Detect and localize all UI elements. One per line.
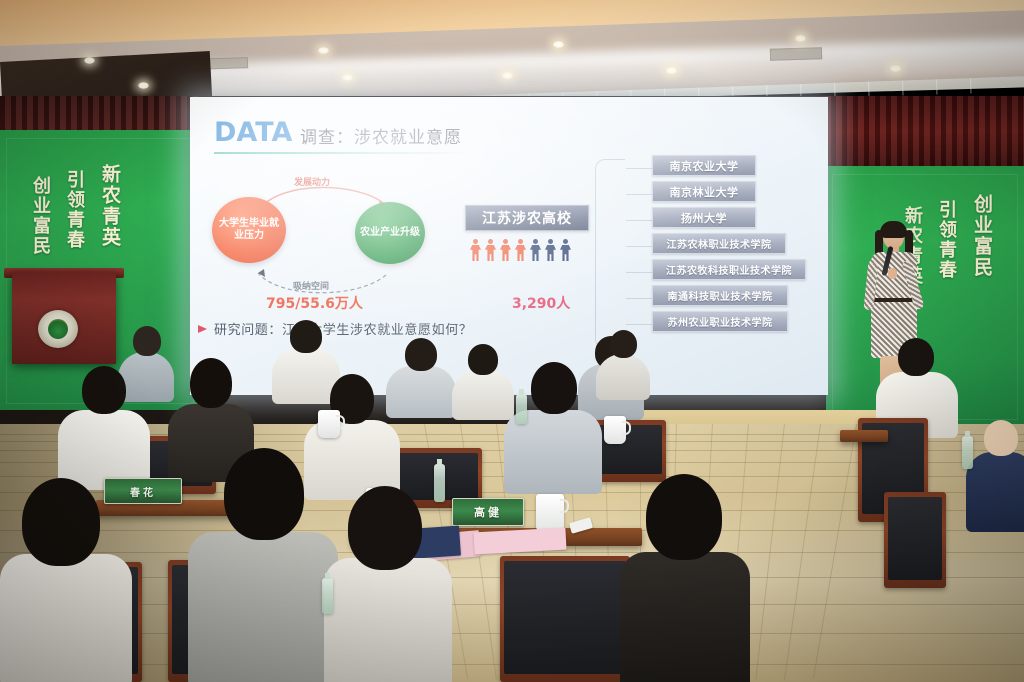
bubble-industry-upgrade: 农业产业升级 — [355, 202, 425, 264]
person-icon — [545, 239, 556, 261]
audience-member — [324, 486, 452, 682]
banner-left-line-3: 创业富民 — [28, 176, 54, 256]
university-item: 苏州农业职业技术学院 — [652, 311, 788, 332]
stat-right: 3,290人 — [512, 293, 570, 313]
nameplate: 高健 — [452, 498, 524, 526]
research-question: 研究问题：江苏大学生涉农就业意愿如何？ — [214, 319, 472, 338]
presenter-hair-top — [880, 221, 907, 238]
ceiling-downlight — [795, 35, 806, 42]
person-icon — [485, 239, 496, 261]
university-item: 南通科技职业技术学院 — [652, 285, 788, 306]
person-icon — [515, 239, 526, 261]
person-icon — [500, 239, 511, 261]
slide-title: 调查：涉农就业意愿 — [300, 123, 462, 148]
mug — [604, 416, 626, 444]
people-icon-row — [470, 239, 571, 261]
ceiling-downlight — [502, 72, 513, 79]
water-bottle — [516, 394, 527, 424]
podium-emblem-icon — [38, 310, 78, 348]
chair — [500, 556, 630, 682]
mug — [536, 494, 564, 532]
water-bottle — [962, 436, 973, 469]
audience-member — [0, 478, 132, 682]
ceiling-vent — [770, 47, 822, 61]
ceiling-downlight — [138, 82, 149, 89]
ceiling-downlight — [890, 65, 901, 72]
chair — [884, 492, 946, 588]
bubble-employment-pressure: 大学生毕业就业压力 — [212, 197, 286, 263]
university-item: 江苏农牧科技职业技术学院 — [652, 259, 806, 280]
bullet-arrow-icon — [198, 325, 207, 333]
audience-member — [58, 366, 150, 486]
banner-left-line-1: 新农青英 — [96, 164, 123, 248]
university-item: 江苏农林职业技术学院 — [652, 233, 786, 254]
stage-curtain-right — [820, 96, 1024, 174]
ceiling-downlight — [553, 41, 564, 48]
ceiling-downlight — [318, 47, 329, 54]
university-item: 南京林业大学 — [652, 181, 756, 202]
banner-right-line-1: 创业富民 — [968, 194, 995, 278]
banner-left-line-2: 引领青春 — [62, 170, 88, 250]
person-icon — [560, 239, 571, 261]
university-item: 扬州大学 — [652, 207, 756, 228]
audience-member — [188, 448, 338, 682]
audience-member — [596, 330, 650, 396]
presenter-belt — [873, 298, 915, 302]
arrow-label-top: 发展动力 — [294, 175, 330, 188]
water-bottle — [322, 578, 333, 614]
ceiling-downlight — [342, 74, 353, 81]
audience-member — [504, 362, 602, 490]
audience-member — [620, 474, 750, 682]
panel-heading: 江苏涉农高校 — [465, 205, 589, 231]
person-icon — [470, 239, 481, 261]
person-icon — [530, 239, 541, 261]
university-list: 南京农业大学南京林业大学扬州大学江苏农林职业技术学院江苏农牧科技职业技术学院南通… — [652, 155, 806, 337]
ceiling-downlight — [84, 57, 95, 64]
arrow-label-bottom: 吸纳空间 — [293, 279, 329, 292]
list-bracket — [595, 159, 625, 349]
stat-left: 795/55.6万人 — [266, 293, 363, 313]
university-item: 南京农业大学 — [652, 155, 756, 176]
mug — [318, 410, 340, 438]
ceiling-downlight — [666, 67, 677, 74]
slide-logo: DATA — [214, 117, 292, 148]
desk — [840, 430, 888, 442]
presenter-hand — [888, 268, 897, 279]
slide-title-underline — [214, 152, 466, 154]
conference-photo: 新农青英 引领青春 创业富民 创业富民 引领青春 新农青英 DATA 调查：涉农… — [0, 0, 1024, 682]
banner-right-line-2: 引领青春 — [934, 200, 960, 280]
audience-member — [966, 420, 1024, 530]
